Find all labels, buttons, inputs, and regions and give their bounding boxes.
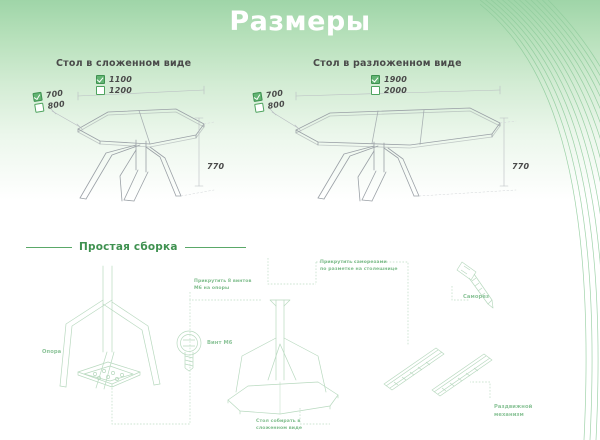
unfolded-depth-options[interactable]: 700 800 [252,87,285,113]
part-label-slide-mechanism: Раздвижной механизм [494,404,550,419]
checkbox-checked-icon[interactable] [371,75,380,84]
folded-depth-options[interactable]: 700 800 [32,87,65,113]
checkbox-unchecked-icon[interactable] [371,86,380,95]
option-row[interactable]: 1100 [96,74,132,85]
option-row[interactable]: 2000 [371,85,407,96]
checkbox-unchecked-icon[interactable] [254,103,264,113]
callout-assemble-folded: Стол собирать в сложенном виде [256,419,330,432]
infographic-page: Размеры Стол в сложенном виде 1100 [0,0,600,440]
part-label-bolt-m6: Винт М6 [207,340,232,348]
checkbox-checked-icon[interactable] [32,92,42,102]
checkbox-unchecked-icon[interactable] [96,86,105,95]
unfolded-width-options[interactable]: 1900 2000 [371,74,407,96]
checkbox-checked-icon[interactable] [96,75,105,84]
option-value: 1900 [384,75,407,84]
option-value: 2000 [384,86,407,95]
divider-left [26,247,72,248]
callout-selftap-to-top: Прикрутить саморезами по разметке на сто… [320,260,420,273]
option-value: 800 [267,99,286,111]
page-title: Размеры [0,6,600,37]
folded-height-value: 770 [207,162,224,171]
callout-screws-to-legs: Прикрутить 8 винтов М6 на опоры [194,279,274,292]
option-value: 1100 [109,75,132,84]
option-value: 1200 [109,86,132,95]
option-value: 800 [47,99,66,111]
option-row[interactable]: 1900 [371,74,407,85]
divider-right [185,247,246,248]
folded-width-options[interactable]: 1100 1200 [96,74,132,96]
unfolded-height-value: 770 [512,162,529,171]
assembly-section-heading: Простая сборка [26,239,246,255]
checkbox-unchecked-icon[interactable] [34,103,44,113]
assembly-heading-text: Простая сборка [79,241,178,253]
part-label-self-tapping-screw: Саморез [463,294,489,302]
section-heading-folded: Стол в сложенном виде [56,58,191,69]
option-row[interactable]: 1200 [96,85,132,96]
checkbox-checked-icon[interactable] [252,92,262,102]
part-label-leg: Опора [42,349,61,357]
section-heading-unfolded: Стол в разложенном виде [313,58,462,69]
